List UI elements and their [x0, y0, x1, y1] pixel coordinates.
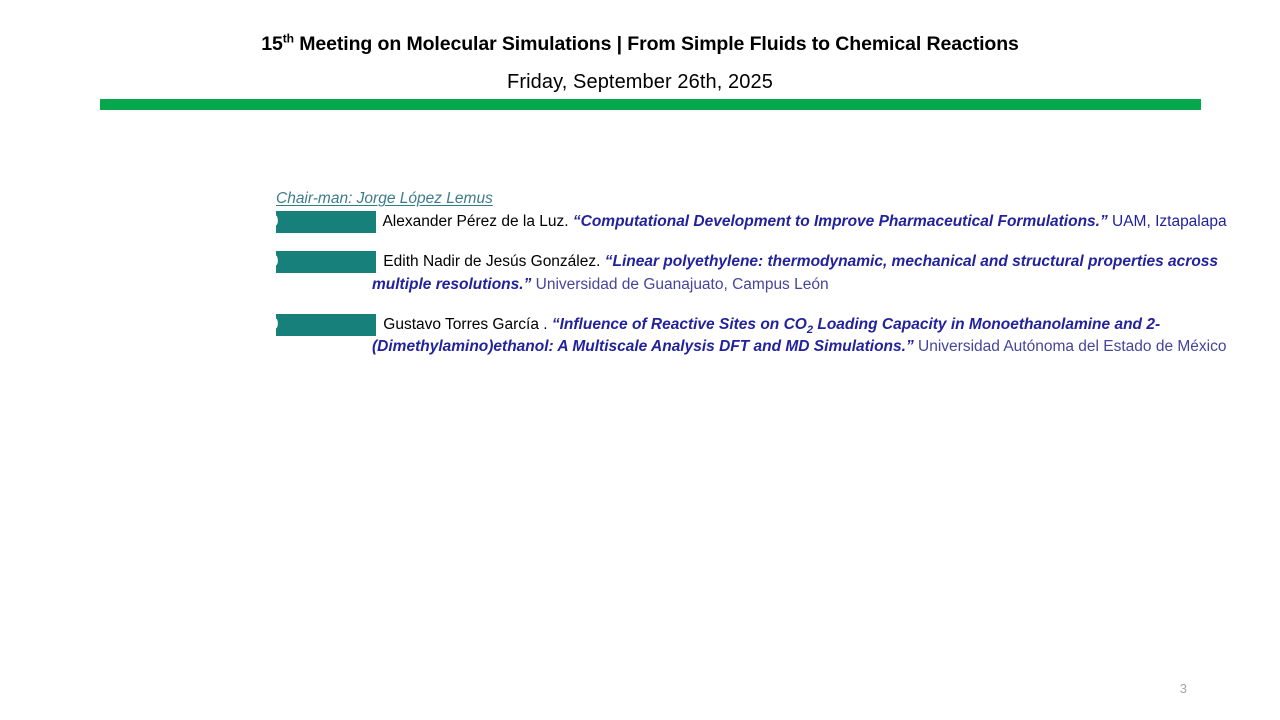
time-badge: 16:00 – 16:30 — [276, 211, 376, 233]
talk-title-pre: “Influence of Reactive Sites on CO — [552, 316, 807, 333]
page-subtitle-date: Friday, September 26th, 2025 — [0, 71, 1280, 94]
time-badge: 16:30 – 17:00 — [276, 251, 376, 273]
page-number: 3 — [1180, 681, 1187, 696]
page-title-number: 15 — [261, 33, 283, 55]
chairman-label: Chair-man: Jorge López Lemus — [276, 190, 493, 208]
time-badge: 17:30 – 18:00 — [276, 314, 376, 336]
schedule-item: 16:00 – 16:30 Alexander Pérez de la Luz.… — [276, 211, 1256, 233]
affiliation: Universidad Autónoma del Estado de Méxic… — [914, 338, 1227, 355]
affiliation: UAM, Iztapalapa — [1108, 213, 1227, 230]
affiliation: Universidad de Guanajuato, Campus León — [531, 276, 828, 293]
program-schedule: Chair-man: Jorge López Lemus 16:00 – 16:… — [276, 190, 1256, 374]
slide-header: 15th Meeting on Molecular Simulations | … — [0, 0, 1280, 94]
schedule-item-body: 16:30 – 17:00 Edith Nadir de Jesús Gonzá… — [372, 251, 1256, 296]
chairman-row: Chair-man: Jorge López Lemus — [276, 190, 1256, 211]
speaker-name: Alexander Pérez de la Luz. — [379, 213, 573, 230]
schedule-item: 17:30 – 18:00 Gustavo Torres García . “I… — [276, 314, 1256, 359]
speaker-name: Gustavo Torres García . — [379, 316, 552, 333]
page-title-rest: Meeting on Molecular Simulations | From … — [294, 33, 1019, 55]
schedule-item-body: 17:30 – 18:00 Gustavo Torres García . “I… — [372, 314, 1256, 359]
schedule-item: 16:30 – 17:00 Edith Nadir de Jesús Gonzá… — [276, 251, 1256, 296]
page-title: 15th Meeting on Molecular Simulations | … — [0, 34, 1280, 54]
green-divider-bar — [100, 99, 1201, 110]
schedule-item-body: 16:00 – 16:30 Alexander Pérez de la Luz.… — [372, 211, 1256, 233]
speaker-name: Edith Nadir de Jesús González. — [379, 253, 605, 270]
page-title-ordinal-suffix: th — [283, 32, 294, 46]
talk-title: “Computational Development to Improve Ph… — [573, 213, 1108, 230]
